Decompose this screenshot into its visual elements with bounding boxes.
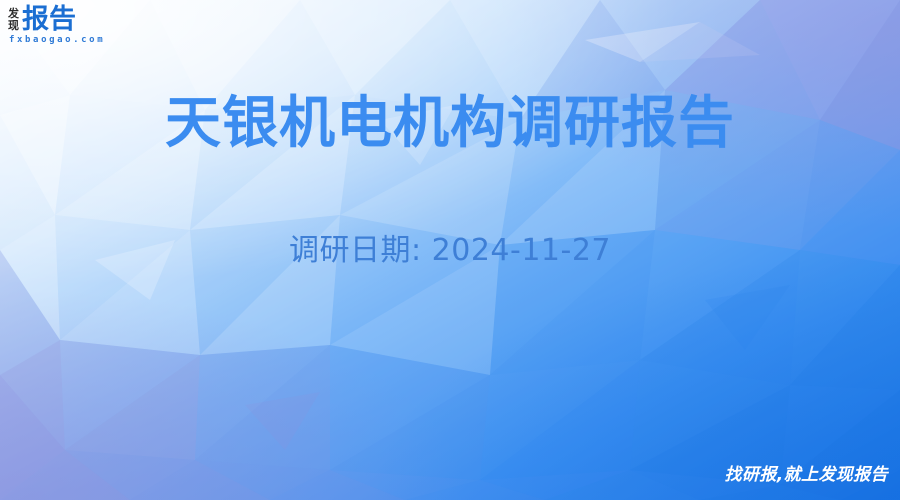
low-poly-background xyxy=(0,0,900,500)
logo-mark-stack: 发 现 xyxy=(8,8,19,34)
logo-domain-text: fxbaogao.com xyxy=(9,35,105,45)
footer-slogan: 找研报,就上发现报告 xyxy=(725,465,888,485)
brand-logo[interactable]: 发 现 报告 fxbaogao.com xyxy=(8,6,105,45)
report-cover: 发 现 报告 fxbaogao.com 天银机电机构调研报告 调研日期: 202… xyxy=(0,0,900,500)
logo-mark-bottom-char: 现 xyxy=(8,20,19,32)
logo-wordmark: 报告 xyxy=(22,6,76,34)
logo-wordmark-row: 发 现 报告 xyxy=(8,6,105,34)
